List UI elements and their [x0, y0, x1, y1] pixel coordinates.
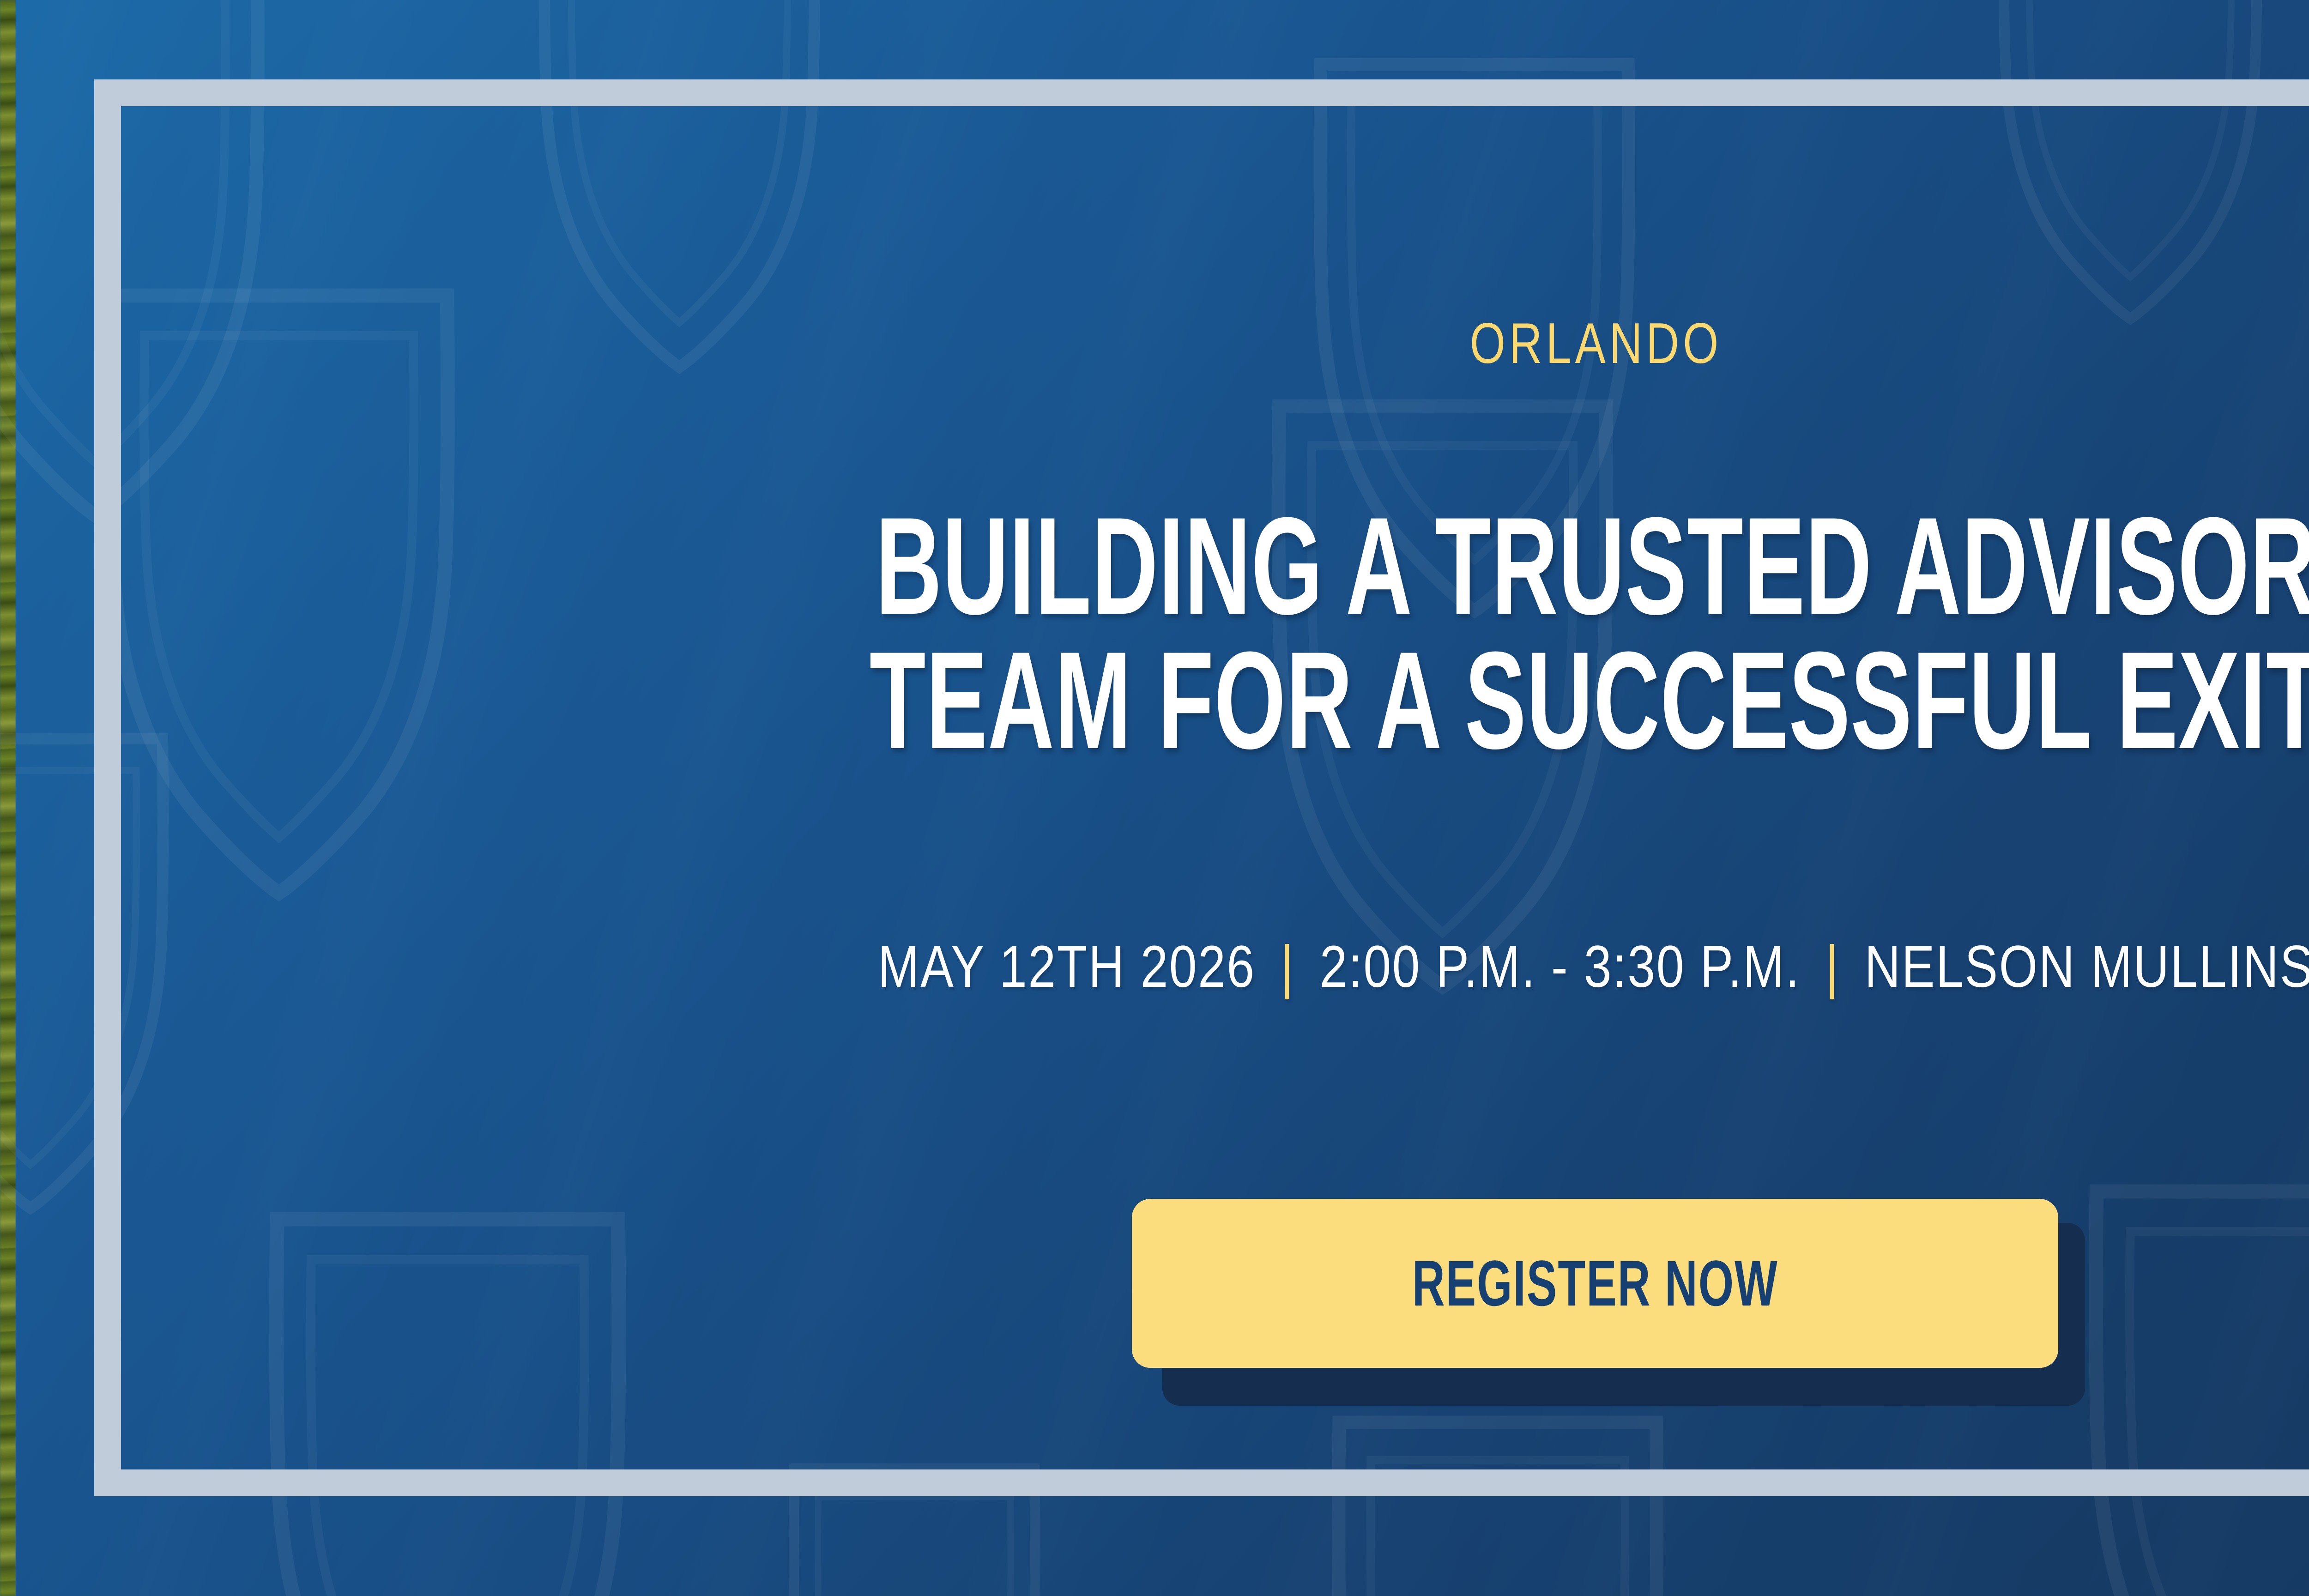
event-location: NELSON MULLINS — [1865, 934, 2309, 1000]
register-now-label: REGISTER NOW — [1412, 1251, 1778, 1316]
event-banner: ORLANDO BUILDING A TRUSTED ADVISOR TEAM … — [0, 0, 2309, 1596]
page-title: BUILDING A TRUSTED ADVISOR TEAM FOR A SU… — [535, 499, 2309, 768]
headline-line-1: BUILDING A TRUSTED ADVISOR — [535, 499, 2309, 633]
register-now-button[interactable]: REGISTER NOW — [1132, 1199, 2058, 1368]
event-time: 2:00 P.M. - 3:30 P.M. — [1320, 934, 1801, 1000]
detail-separator-2: | — [1815, 934, 1850, 1000]
event-date: MAY 12TH 2026 — [878, 934, 1256, 1000]
banner-content: ORLANDO BUILDING A TRUSTED ADVISOR TEAM … — [0, 0, 2309, 1596]
detail-separator-1: | — [1270, 934, 1305, 1000]
event-details: MAY 12TH 2026 | 2:00 P.M. - 3:30 P.M. | … — [255, 937, 2309, 997]
city-eyebrow: ORLANDO — [319, 315, 2309, 372]
headline-line-2: TEAM FOR A SUCCESSFUL EXIT — [535, 633, 2309, 768]
cta-container: REGISTER NOW — [1132, 1199, 2060, 1384]
